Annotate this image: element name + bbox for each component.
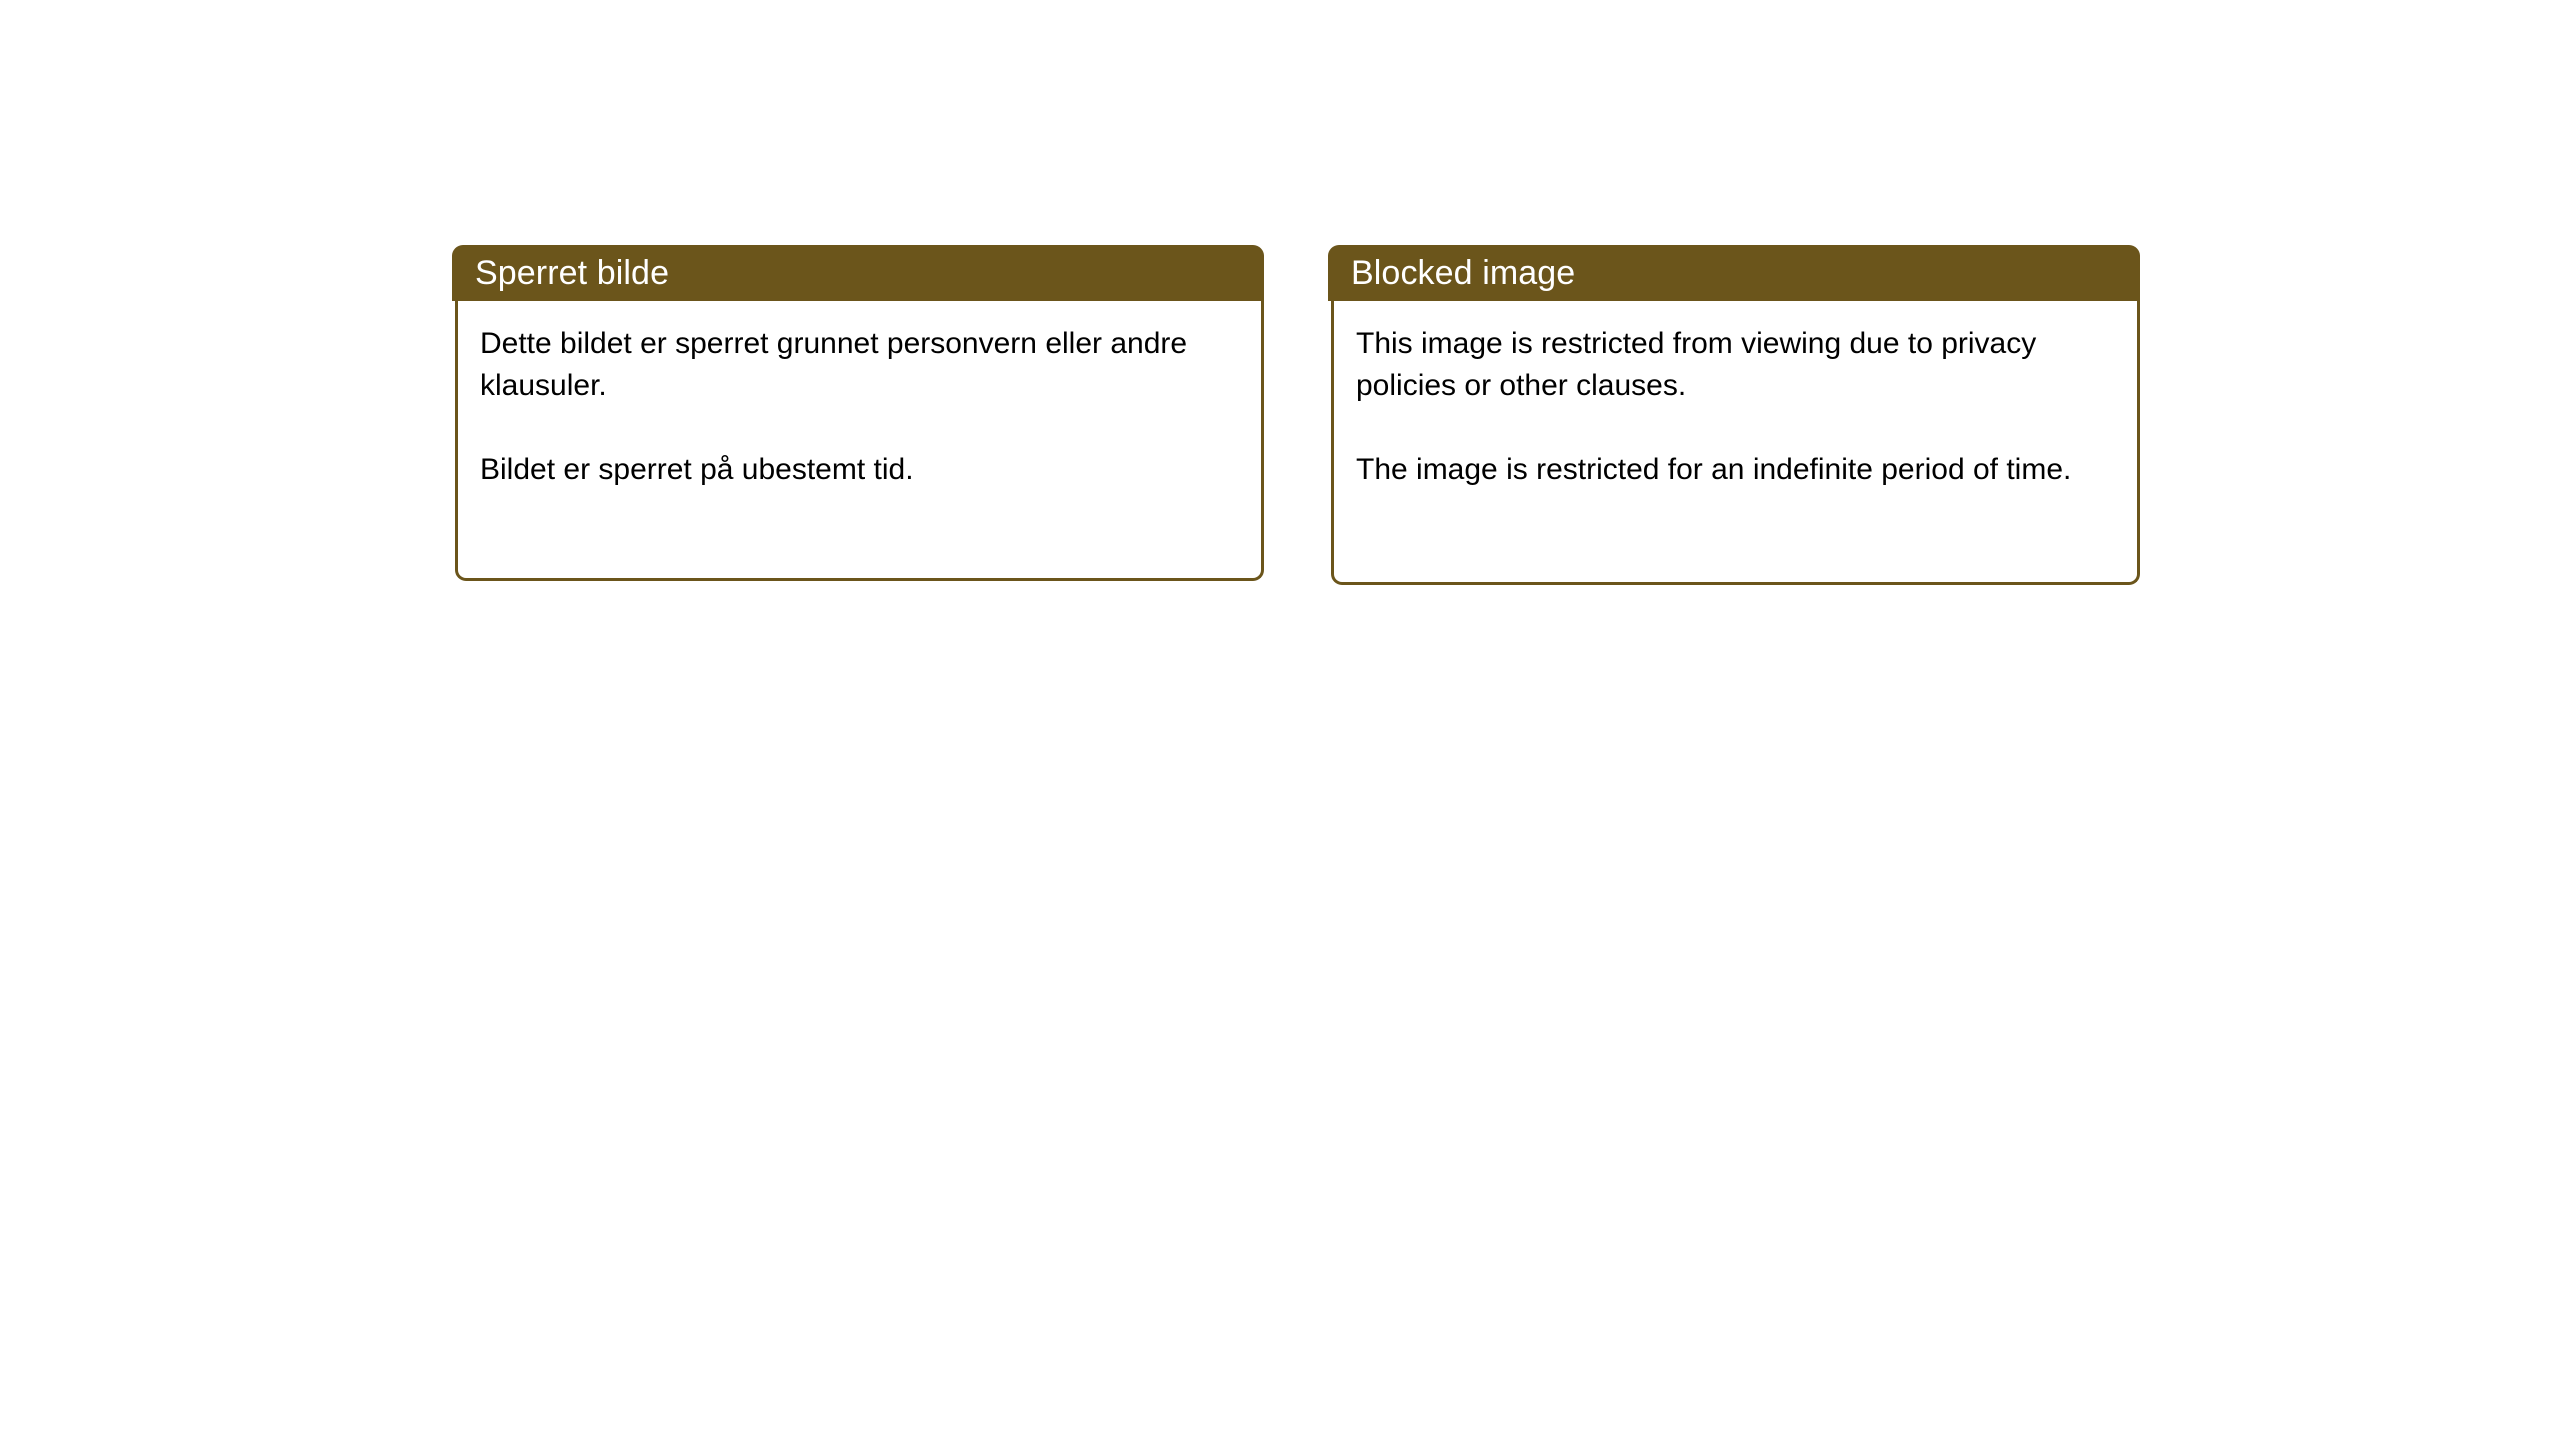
notice-card-header-no: Sperret bilde <box>452 245 1264 301</box>
notice-paragraph-primary-en: This image is restricted from viewing du… <box>1356 323 2113 407</box>
notice-card-body-no: Dette bildet er sperret grunnet personve… <box>455 301 1264 581</box>
notice-card-title-no: Sperret bilde <box>475 253 669 293</box>
notice-card-body-en: This image is restricted from viewing du… <box>1331 301 2140 585</box>
notice-paragraph-secondary-no: Bildet er sperret på ubestemt tid. <box>480 449 1200 491</box>
page-canvas: Sperret bilde Dette bildet er sperret gr… <box>0 0 2560 1440</box>
notice-paragraph-primary-no: Dette bildet er sperret grunnet personve… <box>480 323 1200 407</box>
notice-paragraph-secondary-en: The image is restricted for an indefinit… <box>1356 449 2113 491</box>
notice-card-header-en: Blocked image <box>1328 245 2140 301</box>
notice-card-body-inner-no: Dette bildet er sperret grunnet personve… <box>480 323 1200 491</box>
blocked-image-notice-card-en: Blocked image This image is restricted f… <box>1328 245 2140 585</box>
notice-card-body-inner-en: This image is restricted from viewing du… <box>1356 323 2113 491</box>
notice-card-title-en: Blocked image <box>1351 253 1575 293</box>
blocked-image-notice-card-no: Sperret bilde Dette bildet er sperret gr… <box>452 245 1264 581</box>
